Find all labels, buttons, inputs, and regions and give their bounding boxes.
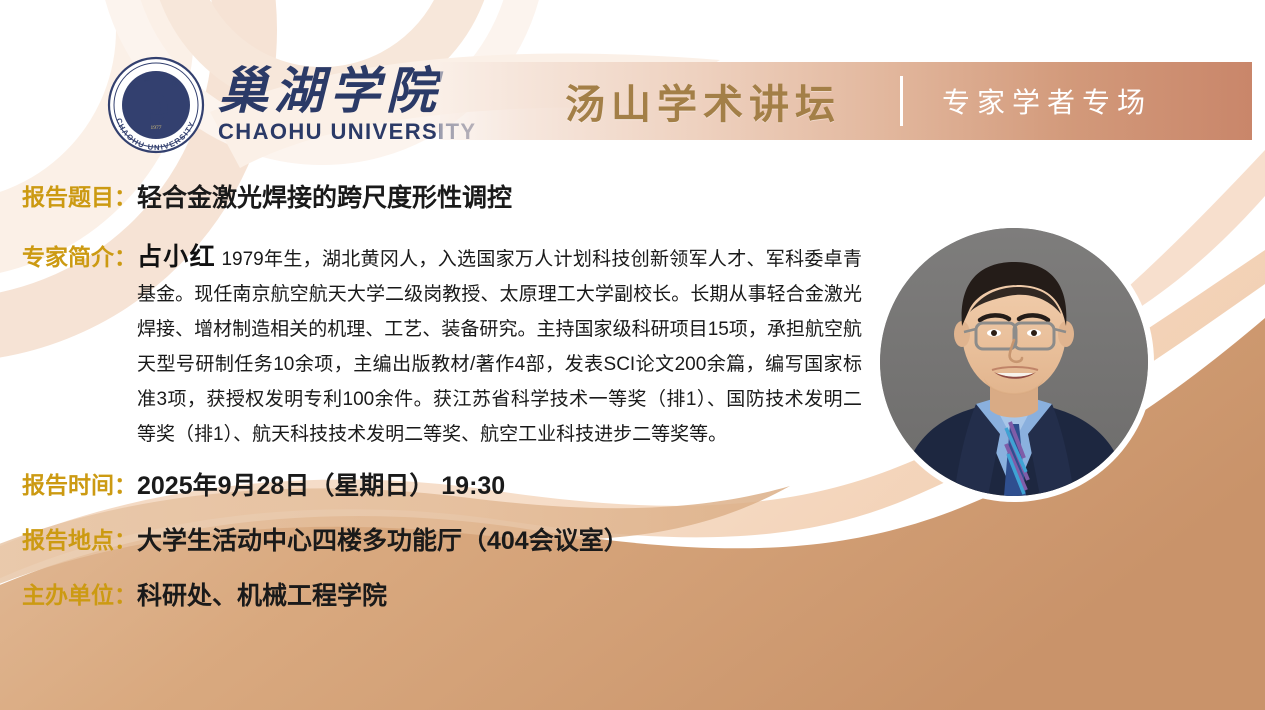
report-time-row: 报告时间： 2025年9月28日（星期日） 19:30 (22, 466, 505, 502)
report-title-label: 报告题目： (22, 178, 137, 212)
speaker-bio-body: 占小红 1979年生，湖北黄冈人，入选国家万人计划科技创新领军人才、军科委卓青基… (137, 240, 862, 452)
speaker-portrait-image (880, 228, 1148, 496)
logo-name-en: CHAOHU UNIVERSITY (218, 119, 477, 145)
speaker-bio-row: 专家简介： 占小红 1979年生，湖北黄冈人，入选国家万人计划科技创新领军人才、… (22, 240, 882, 452)
university-logo: 1977 巢 湖 学 院 CHAOHU UNIVERSITY 巢湖学院 CHAO… (106, 55, 477, 155)
report-title-row: 报告题目： 轻合金激光焊接的跨尺度形性调控 (22, 178, 512, 214)
report-title-value: 轻合金激光焊接的跨尺度形性调控 (137, 178, 512, 214)
banner-sub-title: 专家学者专场 (942, 81, 1152, 121)
header-banner: 汤山学术讲坛 专家学者专场 (440, 62, 1252, 140)
organizer-row: 主办单位： 科研处、机械工程学院 (22, 576, 387, 612)
report-time-value: 2025年9月28日（星期日） 19:30 (137, 466, 505, 502)
report-place-row: 报告地点： 大学生活动中心四楼多功能厅（404会议室） (22, 521, 629, 557)
university-seal-icon: 1977 巢 湖 学 院 CHAOHU UNIVERSITY (106, 55, 206, 155)
report-time-label: 报告时间： (22, 466, 137, 500)
banner-main-title: 汤山学术讲坛 (565, 72, 841, 130)
speaker-portrait (880, 228, 1148, 496)
report-place-value: 大学生活动中心四楼多功能厅（404会议室） (137, 521, 629, 557)
organizer-label: 主办单位： (22, 576, 137, 610)
organizer-value: 科研处、机械工程学院 (137, 576, 387, 612)
poster-canvas: 1977 巢 湖 学 院 CHAOHU UNIVERSITY 巢湖学院 CHAO… (0, 0, 1265, 710)
speaker-bio-label: 专家简介： (22, 240, 137, 275)
report-place-label: 报告地点： (22, 521, 137, 555)
speaker-name: 占小红 (137, 243, 216, 271)
logo-name-cn: 巢湖学院 (218, 65, 477, 118)
svg-text:1977: 1977 (151, 125, 162, 131)
banner-divider (900, 76, 903, 126)
speaker-bio-text: 1979年生，湖北黄冈人，入选国家万人计划科技创新领军人才、军科委卓青基金。现任… (137, 249, 862, 445)
